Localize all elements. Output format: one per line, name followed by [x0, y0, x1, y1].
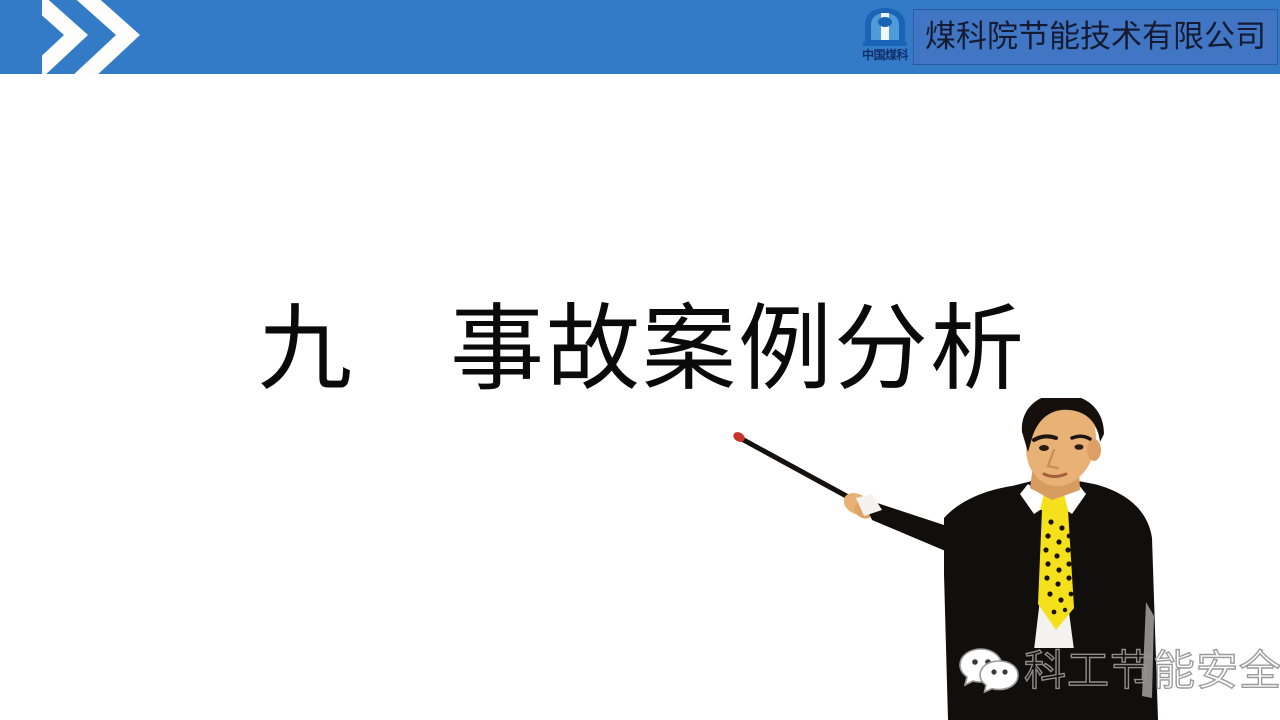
wechat-watermark: 科工节能安全 — [958, 638, 1268, 704]
china-coal-technology-logo-icon — [857, 6, 913, 48]
slide-header-band: 中国煤科 煤科院节能技术有限公司 — [0, 0, 1280, 74]
company-logo: 中国煤科 — [851, 6, 919, 70]
wechat-logo-icon — [958, 646, 1020, 696]
company-name-text: 煤科院节能技术有限公司 — [925, 20, 1266, 54]
watermark-text: 科工节能安全 — [1024, 648, 1280, 694]
page-title: 九 事故案例分析 — [258, 298, 1038, 406]
presentation-slide: 中国煤科 煤科院节能技术有限公司 九 事故案例分析 — [0, 0, 1280, 720]
company-logo-caption: 中国煤科 — [851, 48, 919, 62]
company-name-box: 煤科院节能技术有限公司 — [913, 9, 1278, 65]
double-chevron-right-icon — [42, 0, 167, 74]
